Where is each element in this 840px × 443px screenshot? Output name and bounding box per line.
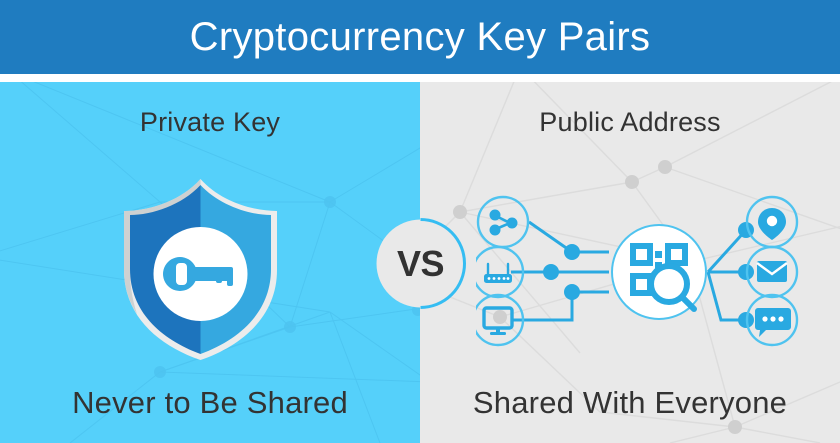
- qr-code-magnifier-icon: [612, 225, 706, 319]
- public-address-caption: Shared With Everyone: [420, 385, 840, 421]
- shield-with-key-icon: [108, 177, 293, 362]
- vs-label: VS: [375, 218, 466, 309]
- infographic-canvas: Cryptocurrency Key Pairs: [0, 0, 840, 443]
- private-key-heading: Private Key: [0, 107, 420, 138]
- header-bar: Cryptocurrency Key Pairs: [0, 0, 840, 74]
- chat-bubble-icon: [747, 295, 797, 345]
- envelope-icon: [747, 247, 797, 297]
- public-address-heading: Public Address: [420, 107, 840, 138]
- vs-divider-badge: VS: [375, 218, 466, 309]
- share-network-icon: [478, 197, 528, 247]
- private-key-panel: Private Key: [0, 82, 420, 443]
- public-address-icon-network: [476, 180, 840, 350]
- page-title: Cryptocurrency Key Pairs: [0, 0, 840, 74]
- location-pin-icon: [747, 197, 797, 247]
- private-key-caption: Never to Be Shared: [0, 385, 420, 421]
